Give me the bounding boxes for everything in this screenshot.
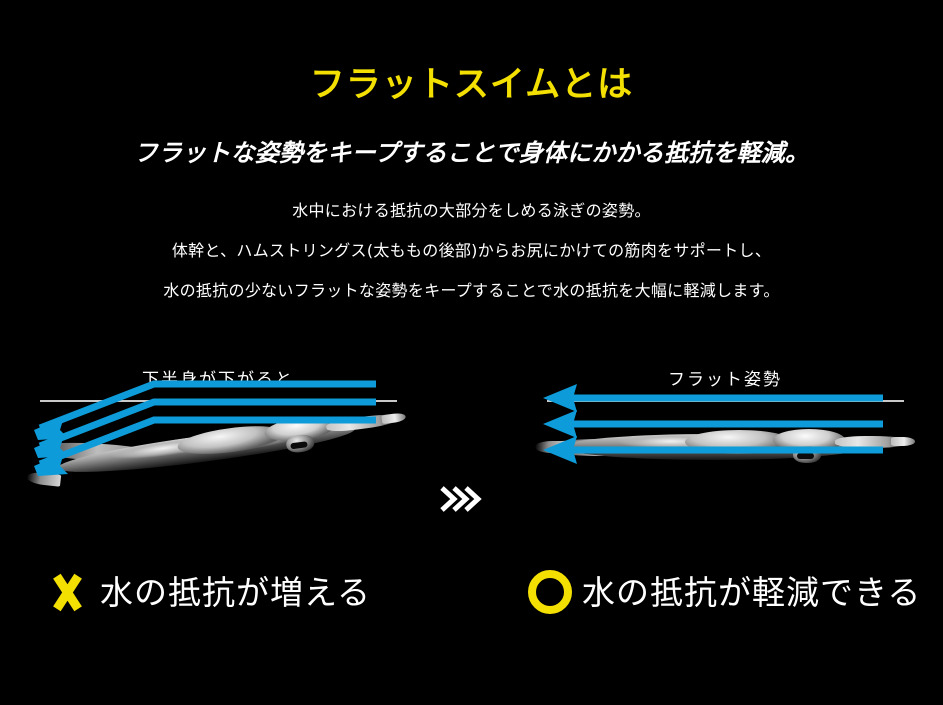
- circle-mark-icon: [528, 570, 572, 614]
- straight-flow-arrows-icon: [525, 368, 925, 478]
- result-caption-negative: 水の抵抗が増える: [44, 566, 371, 618]
- body-text-block: 水中における抵抗の大部分をしめる泳ぎの姿勢。 体幹と、ハムストリングス(太ももの…: [0, 203, 943, 299]
- result-text-negative: 水の抵抗が増える: [100, 576, 371, 609]
- body-line: 水の抵抗の少ないフラットな姿勢をキープすることで水の抵抗を大幅に軽減します。: [0, 283, 943, 299]
- page-subtitle: フラットな姿勢をキープすることで身体にかかる抵抗を軽減。: [0, 139, 943, 168]
- x-mark-icon: [44, 569, 90, 615]
- result-caption-positive: 水の抵抗が軽減できる: [528, 566, 921, 618]
- page-title: フラットスイムとは: [0, 66, 943, 105]
- result-text-positive: 水の抵抗が軽減できる: [582, 576, 921, 609]
- body-line: 体幹と、ハムストリングス(太ももの後部)からお尻にかけての筋肉をサポートし、: [0, 243, 943, 259]
- deflected-flow-arrows-icon: [18, 368, 418, 478]
- triple-chevron-right-icon: [437, 482, 483, 516]
- body-line: 水中における抵抗の大部分をしめる泳ぎの姿勢。: [0, 203, 943, 219]
- slide-root: フラットスイムとは フラットな姿勢をキープすることで身体にかかる抵抗を軽減。 水…: [0, 0, 943, 705]
